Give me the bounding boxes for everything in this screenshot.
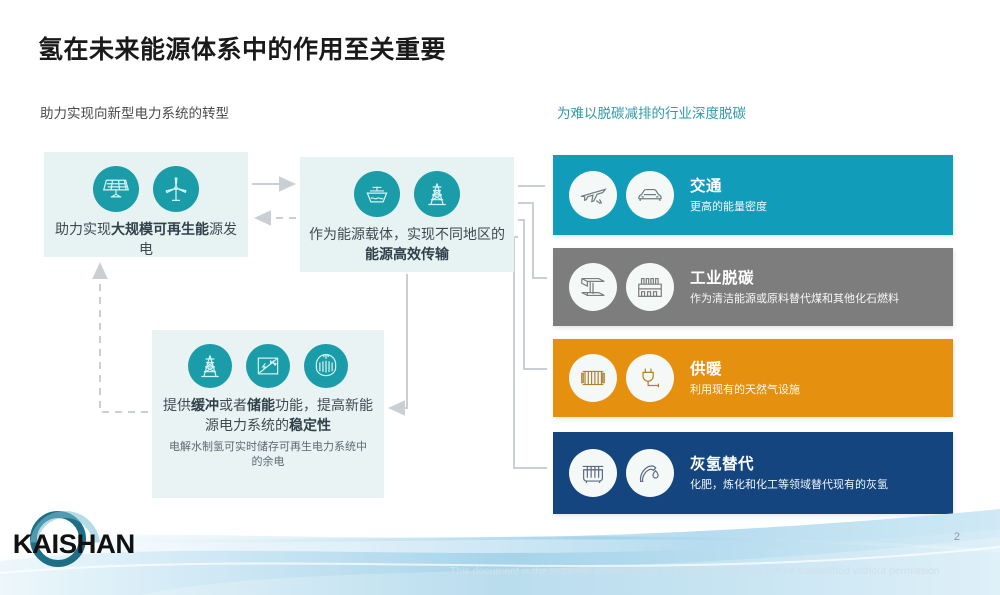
sector-1-title: 交通 — [690, 174, 943, 196]
flow-box-2-text: 作为能源载体，实现不同地区的能源高效传输 — [300, 225, 514, 265]
sector-3-title: 供暖 — [690, 357, 943, 379]
sector-4-text: 灰氢替代 化肥，炼化和化工等领域替代现有的灰氢 — [690, 452, 953, 494]
sector-bar-grey-hydrogen-replacement[interactable]: 灰氢替代 化肥，炼化和化工等领域替代现有的灰氢 — [553, 432, 953, 514]
flow-box-3-subtext: 电解水制氢可实时储存可再生电力系统中的余电 — [152, 436, 384, 471]
kaishan-logo: KAISHAN — [8, 511, 158, 569]
footer-disclaimer: This document is the technical achieveme… — [450, 565, 940, 577]
flow-box-3-text: 提供缓冲或者储能功能，提高新能源电力系统的稳定性 — [152, 396, 384, 436]
slide-canvas: 氢在未来能源体系中的作用至关重要 助力实现向新型电力系统的转型 为难以脱碳减排的… — [0, 0, 1000, 595]
flow-box-renewable-generation[interactable]: 助力实现大规模可再生能源发电 — [44, 152, 248, 257]
flow-box-3-icons — [152, 344, 384, 388]
airplane-icon — [569, 171, 617, 219]
cargo-ship-icon — [354, 171, 400, 217]
transmission-tower-icon — [188, 344, 232, 388]
power-plug-icon — [626, 354, 674, 402]
sector-1-text: 交通 更高的能量密度 — [690, 174, 953, 216]
transmission-tower-icon — [414, 171, 460, 217]
oil-pump-icon — [626, 449, 674, 497]
page-number: 2 — [954, 531, 960, 543]
car-icon — [626, 171, 674, 219]
factory-icon — [626, 263, 674, 311]
flow-box-2-icons — [300, 171, 514, 217]
storage-tank-icon — [304, 344, 348, 388]
flow-box-1-icons — [44, 166, 248, 212]
solar-panel-icon — [93, 166, 139, 212]
sector-3-text: 供暖 利用现有的天然气设施 — [690, 357, 953, 399]
sector-bar-industrial-decarbonization[interactable]: 工业脱碳 作为清洁能源或原料替代煤和其他化石燃料 — [553, 248, 953, 326]
sector-4-icons — [569, 449, 674, 497]
subtitle-right: 为难以脱碳减排的行业深度脱碳 — [557, 102, 746, 122]
flow-box-1-text: 助力实现大规模可再生能源发电 — [44, 220, 248, 260]
sector-1-icons — [569, 171, 674, 219]
sector-4-title: 灰氢替代 — [690, 452, 943, 474]
flow-box-buffer-storage[interactable]: 提供缓冲或者储能功能，提高新能源电力系统的稳定性 电解水制氢可实时储存可再生电力… — [152, 330, 384, 498]
test-tube-rack-icon — [569, 449, 617, 497]
sector-3-icons — [569, 354, 674, 402]
sector-2-title: 工业脱碳 — [690, 266, 943, 288]
steel-beam-icon — [569, 263, 617, 311]
wind-turbine-icon — [153, 166, 199, 212]
page-title: 氢在未来能源体系中的作用至关重要 — [38, 30, 446, 66]
sector-2-desc: 作为清洁能源或原料替代煤和其他化石燃料 — [690, 292, 943, 308]
hydrogen-converter-icon — [246, 344, 290, 388]
sector-4-desc: 化肥，炼化和化工等领域替代现有的灰氢 — [690, 478, 943, 494]
flow-box-energy-carrier[interactable]: 作为能源载体，实现不同地区的能源高效传输 — [300, 157, 514, 272]
sector-bar-heating[interactable]: 供暖 利用现有的天然气设施 — [553, 339, 953, 417]
sector-2-text: 工业脱碳 作为清洁能源或原料替代煤和其他化石燃料 — [690, 266, 953, 308]
sector-bar-transport[interactable]: 交通 更高的能量密度 — [553, 155, 953, 235]
sector-1-desc: 更高的能量密度 — [690, 200, 943, 216]
logo-text: KAISHAN — [13, 529, 135, 560]
subtitle-left: 助力实现向新型电力系统的转型 — [40, 102, 229, 122]
sector-3-desc: 利用现有的天然气设施 — [690, 383, 943, 399]
radiator-icon — [569, 354, 617, 402]
sector-2-icons — [569, 263, 674, 311]
